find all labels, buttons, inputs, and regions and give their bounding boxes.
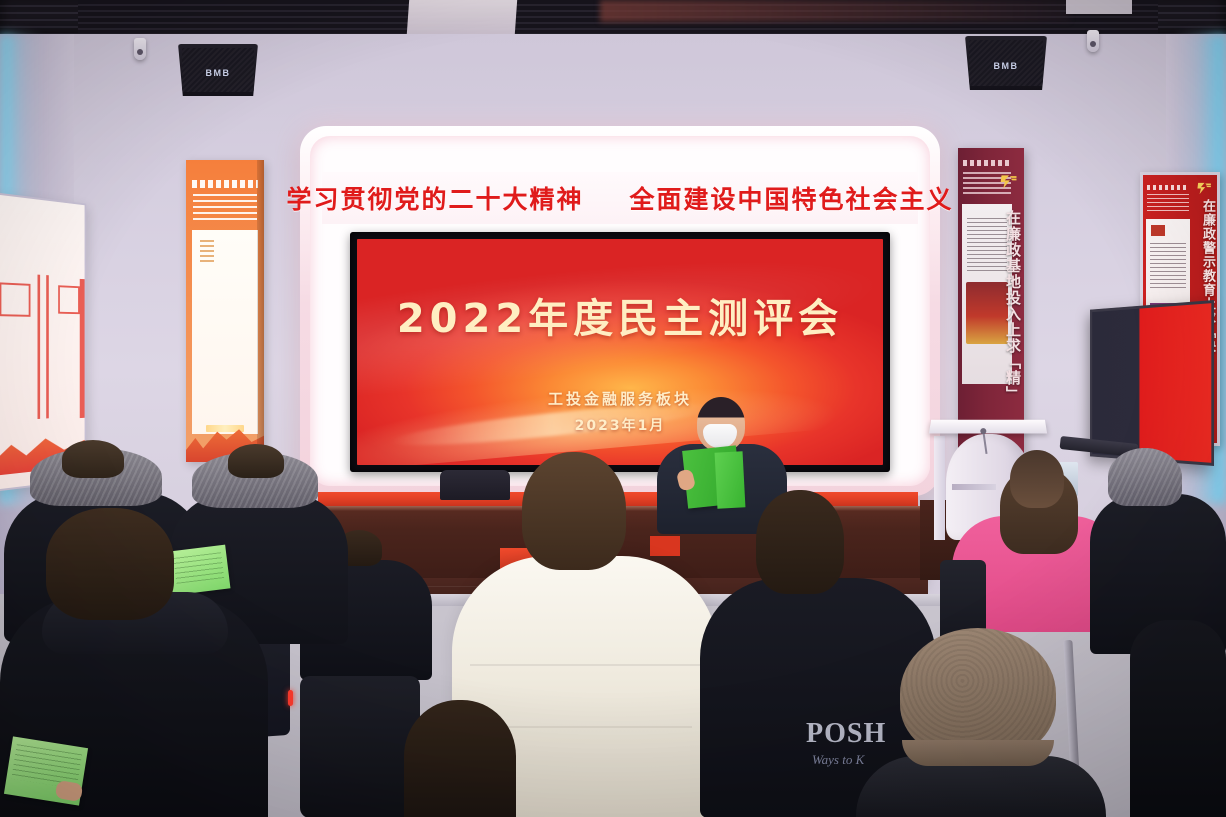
panel-graphic	[0, 282, 30, 316]
coat-seam	[470, 664, 700, 666]
screen-date: 2023年1月	[357, 415, 883, 435]
ceiling-document-secondary	[1066, 0, 1132, 14]
speaker-left: BMB	[178, 44, 258, 96]
ceiling-sensor-icon	[134, 38, 146, 60]
poster-inner-card	[192, 230, 258, 434]
coat-seam	[478, 726, 692, 728]
attendee-head	[62, 440, 124, 478]
ballot-lines	[173, 552, 224, 584]
poster-heading-line	[192, 180, 258, 188]
poster-body-text	[1147, 194, 1189, 212]
chair-indicator-light	[288, 690, 293, 706]
presenter-folder-page	[715, 451, 746, 508]
screen-subtitle: 工投金融服务板块	[357, 388, 883, 409]
knit-hat-brim	[902, 740, 1054, 766]
stage-desk-gap-secondary	[650, 536, 680, 556]
poster-card-text	[1150, 243, 1186, 289]
panel-graphic	[80, 279, 85, 418]
attendee-white-coat-hair	[522, 452, 626, 570]
banner-text-left: 学习贯彻党的二十大精神	[286, 180, 583, 216]
podium-shelf	[952, 484, 996, 490]
attendee-body	[1130, 620, 1226, 817]
screen-title: 2022年度民主测评会	[357, 286, 883, 344]
banner-text-right: 全面建设中国特色社会主义	[630, 180, 954, 216]
jacket-brand-script: Ways to K	[812, 752, 864, 768]
speaker-right: BMB	[965, 36, 1047, 90]
poster-edge-shadow	[257, 160, 264, 462]
led-screen-bezel: 2022年度民主测评会 工投金融服务板块 2023年1月	[350, 232, 890, 472]
poster-vertical-text: 在廉政基地投入上求「精」	[996, 210, 1021, 402]
evaluation-ballot	[168, 545, 231, 596]
poster-card-icon	[1151, 225, 1165, 236]
poster-card-text	[200, 240, 214, 262]
attendee-hood	[1108, 448, 1182, 506]
ceiling-warm-light	[600, 0, 1070, 22]
chair	[300, 676, 420, 817]
poster-body-text	[193, 194, 257, 220]
speaker-brand-label: BMB	[965, 61, 1047, 71]
attendee-hair	[46, 508, 174, 620]
poster-orange-left	[186, 160, 264, 462]
panel-graphic	[58, 285, 80, 314]
poster-heading-line	[963, 160, 1011, 166]
podium-post	[934, 436, 945, 540]
panel-graphic	[46, 275, 49, 418]
led-screen: 2022年度民主测评会 工投金融服务板块 2023年1月	[357, 239, 883, 465]
stage-backdrop-frame: 学习贯彻党的二十大精神 全面建设中国特色社会主义 2022年度民主测评会 工投金…	[300, 126, 940, 496]
stage-chair	[440, 470, 510, 500]
panel-graphic	[38, 275, 41, 419]
podium-top	[929, 420, 1047, 434]
party-emblem-icon	[1196, 180, 1213, 197]
wall-banner: 学习贯彻党的二十大精神 全面建设中国特色社会主义	[322, 172, 918, 224]
ceiling-document	[407, 0, 517, 34]
attendee-hair	[404, 700, 516, 817]
poster-heading-line	[1147, 185, 1187, 190]
attendee-posh-jacket-hair	[756, 490, 844, 594]
ceiling-camera-icon	[1087, 30, 1099, 52]
speaker-brand-label: BMB	[178, 68, 258, 78]
party-emblem-icon	[999, 172, 1019, 192]
attendee-head	[228, 444, 284, 478]
attendee-pink-coat-head	[1010, 450, 1064, 508]
conference-room-photo: BMB BMB 学习贯彻党的二十大精神 全面建设中国特色社会主义	[0, 0, 1226, 817]
